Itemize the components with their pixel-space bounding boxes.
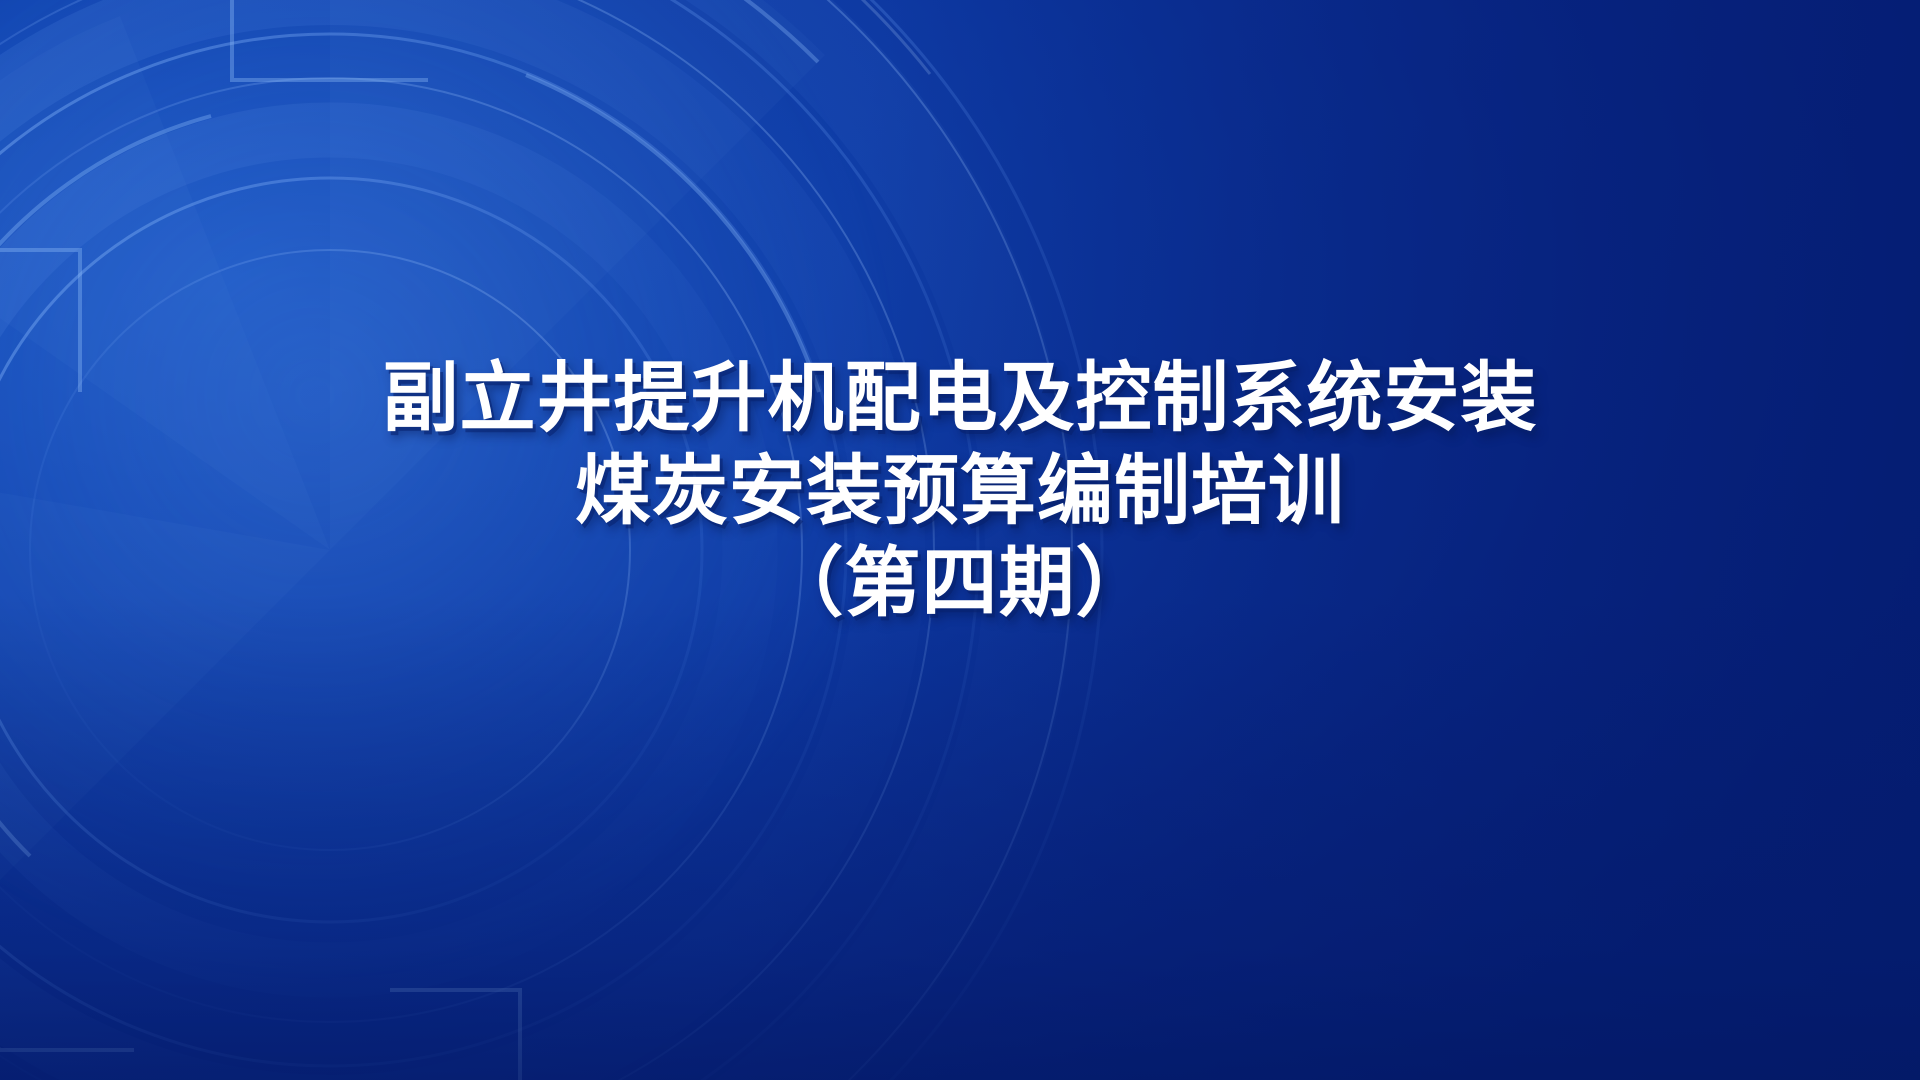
slide-title-block: 副立井提升机配电及控制系统安装 煤炭安装预算编制培训 （第四期） xyxy=(0,352,1920,630)
title-slide: 副立井提升机配电及控制系统安装 煤炭安装预算编制培训 （第四期） xyxy=(0,0,1920,1080)
slide-title-line-1: 副立井提升机配电及控制系统安装 xyxy=(80,352,1840,445)
slide-title-line-3: （第四期） xyxy=(80,537,1840,630)
slide-title-line-2: 煤炭安装预算编制培训 xyxy=(80,445,1840,538)
